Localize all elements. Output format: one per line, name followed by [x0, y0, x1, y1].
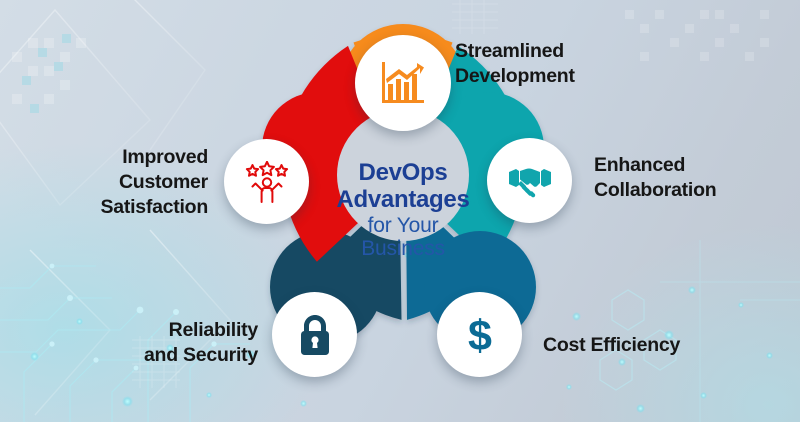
devops-advantages-infographic: $	[0, 0, 800, 422]
person-stars-icon	[244, 161, 290, 203]
label-enhanced-collaboration: Enhanced Collaboration	[594, 153, 716, 203]
pixel-mosaic-right	[625, 10, 769, 61]
glow-dot	[122, 396, 133, 407]
bar-chart-growth-icon	[380, 61, 426, 105]
center-title-line2: Advantages	[318, 187, 488, 214]
label-streamlined-development: Streamlined Development	[455, 39, 575, 89]
center-title-line3: for Your	[318, 214, 488, 238]
glow-dot	[566, 384, 572, 390]
center-title: DevOps Advantages for Your Business	[318, 160, 488, 261]
icon-bubble-collaboration[interactable]	[487, 138, 572, 223]
handshake-icon	[508, 164, 552, 198]
svg-text:$: $	[468, 312, 492, 358]
label-reliability-and-security: Reliability and Security	[56, 318, 258, 368]
glow-dot	[30, 352, 39, 361]
center-title-line1: DevOps	[318, 160, 488, 187]
glow-dot	[618, 358, 626, 366]
glow-dot	[688, 286, 696, 294]
glow-dot	[206, 392, 212, 398]
grid-lines-right	[660, 240, 800, 422]
icon-bubble-reliability[interactable]	[272, 292, 357, 377]
glow-dot	[572, 312, 581, 321]
glow-dot	[636, 404, 645, 413]
icon-bubble-cost[interactable]: $	[437, 292, 522, 377]
center-title-line4: Business	[318, 237, 488, 261]
icon-bubble-customer[interactable]	[224, 139, 309, 224]
label-improved-customer-satisfaction: Improved Customer Satisfaction	[18, 145, 208, 220]
glow-dot	[766, 352, 773, 359]
glow-dot	[700, 392, 707, 399]
glow-dot	[738, 302, 744, 308]
pixel-mosaic-left	[12, 38, 86, 104]
padlock-icon	[298, 314, 332, 356]
label-cost-efficiency: Cost Efficiency	[543, 333, 680, 358]
dollar-sign-icon: $	[463, 312, 497, 358]
icon-bubble-streamlined[interactable]	[355, 35, 451, 131]
glow-dot	[300, 400, 307, 407]
pixel-mosaic-left-accent	[22, 34, 71, 113]
